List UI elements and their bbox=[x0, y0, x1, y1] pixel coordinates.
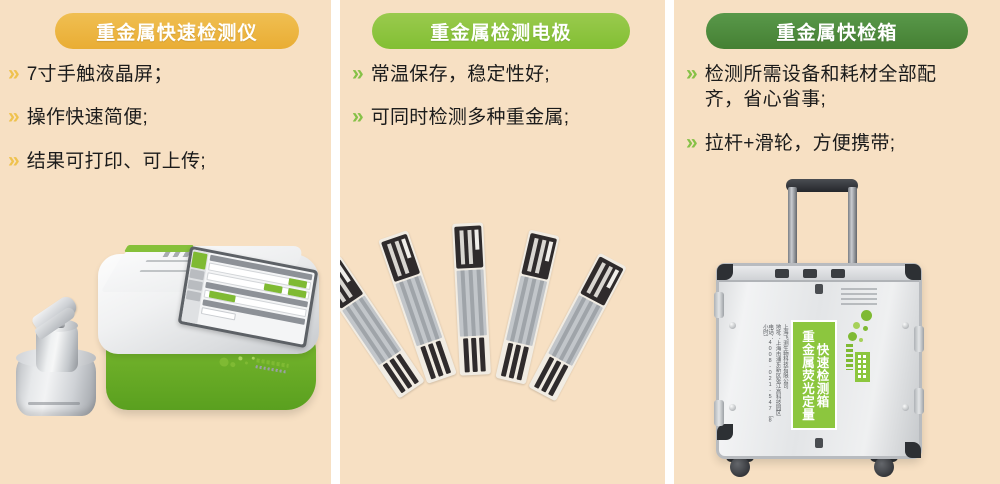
case-side-clip bbox=[914, 388, 924, 414]
silver-sampling-accessory bbox=[14, 288, 100, 416]
electrode-head bbox=[454, 225, 483, 268]
case-side-clip bbox=[714, 400, 724, 426]
logo-dot bbox=[861, 310, 872, 321]
electrode-contacts bbox=[417, 339, 454, 380]
chevron-double-right-icon: » bbox=[8, 62, 20, 86]
feature-list-electrode: » 常温保存，稳定性好; » 可同时检测多种重金属; bbox=[352, 62, 657, 149]
feature-text: 拉杆+滑轮，方便携带; bbox=[705, 131, 896, 156]
company-name: 上海飞测生物科技有限公司 bbox=[782, 324, 787, 389]
panel-divider bbox=[331, 0, 340, 484]
electrode-traces bbox=[457, 269, 487, 336]
handle-anchor bbox=[831, 269, 845, 278]
handle-rod-left bbox=[788, 187, 797, 269]
electrode-contacts bbox=[460, 337, 489, 372]
case-rivet bbox=[729, 322, 736, 329]
chevron-double-right-icon: » bbox=[352, 62, 364, 86]
case-rivet bbox=[902, 404, 909, 411]
logo-dot bbox=[238, 356, 243, 361]
handle-anchor bbox=[775, 269, 789, 278]
wheel-tyre bbox=[730, 457, 750, 477]
electrode-contacts bbox=[498, 342, 532, 381]
logo-wordmark bbox=[846, 344, 853, 370]
chevron-double-right-icon: » bbox=[686, 131, 698, 155]
panel-title-analyzer: 重金属快速检测仪 bbox=[55, 13, 299, 49]
feature-text: 检测所需设备和耗材全部配齐，省心省事; bbox=[705, 62, 957, 113]
feature-text: 操作快速简便; bbox=[27, 105, 148, 130]
handle-anchor bbox=[803, 269, 817, 278]
case-lock-top[interactable] bbox=[815, 284, 823, 294]
electrode-traces bbox=[395, 275, 442, 346]
chevron-double-right-icon: » bbox=[352, 105, 364, 129]
panel-title-case: 重金属快检箱 bbox=[706, 13, 968, 49]
product-feature-board: 重金属快速检测仪 » 7寸手触液晶屏； » 操作快速简便; » 结果可打印、可上… bbox=[0, 0, 1000, 484]
sidebar-active-item[interactable] bbox=[191, 251, 208, 269]
company-address: 地址：上海市浦东新区张江高科技园区 bbox=[774, 324, 779, 416]
case-company-text: 上海飞测生物科技有限公司 地址：上海市浦东新区张江高科技园区 电话：4008-0… bbox=[771, 324, 787, 428]
analyzer-body bbox=[98, 246, 323, 421]
logo-dot bbox=[245, 361, 248, 364]
logo-dot bbox=[853, 322, 860, 329]
list-item: » 常温保存，稳定性好; bbox=[352, 62, 657, 87]
feature-text: 结果可打印、可上传; bbox=[27, 149, 206, 174]
list-item: » 检测所需设备和耗材全部配齐，省心省事; bbox=[686, 62, 992, 113]
logo-dot bbox=[230, 362, 236, 368]
corner-protector bbox=[717, 264, 733, 280]
list-item: » 结果可打印、可上传; bbox=[8, 149, 323, 174]
corner-protector bbox=[717, 424, 733, 440]
electrode-head bbox=[381, 234, 420, 283]
case-rivet bbox=[729, 404, 736, 411]
case-green-label: 重金属荧光定量 快速检测箱 bbox=[791, 320, 837, 430]
case-brand-logo bbox=[843, 308, 877, 386]
logo-dot bbox=[848, 332, 857, 341]
feature-list-case: » 检测所需设备和耗材全部配齐，省心省事; » 拉杆+滑轮，方便携带; bbox=[686, 62, 992, 174]
electrode-traces bbox=[342, 295, 401, 365]
case-side-clip bbox=[914, 326, 924, 352]
panel-title-electrode: 重金属检测电极 bbox=[372, 13, 630, 49]
product-image-analyzer bbox=[0, 246, 331, 484]
label-line-2: 快速检测箱 bbox=[815, 343, 828, 408]
chevron-double-right-icon: » bbox=[8, 105, 20, 129]
panel-heavy-metal-detection-electrode: 重金属检测电极 » 常温保存，稳定性好; » 可同时检测多种重金属; bbox=[340, 0, 665, 484]
list-item: » 可同时检测多种重金属; bbox=[352, 105, 657, 130]
wheel-tyre bbox=[874, 457, 894, 477]
corner-protector bbox=[905, 264, 921, 280]
feature-text: 可同时检测多种重金属; bbox=[371, 105, 570, 130]
product-image-trolley-case: 上海飞测生物科技有限公司 地址：上海市浦东新区张江高科技园区 电话：4008-0… bbox=[674, 175, 1000, 484]
electrode-traces bbox=[548, 295, 603, 366]
case-side-clip bbox=[714, 292, 724, 318]
electrode-strip bbox=[452, 222, 491, 375]
chevron-double-right-icon: » bbox=[686, 62, 698, 86]
case-body: 上海飞测生物科技有限公司 地址：上海市浦东新区张江高科技园区 电话：4008-0… bbox=[716, 263, 922, 459]
product-image-electrodes bbox=[340, 215, 665, 484]
label-line-1: 重金属荧光定量 bbox=[801, 330, 814, 421]
case-fine-print bbox=[841, 288, 877, 306]
list-item: » 操作快速简便; bbox=[8, 105, 323, 130]
analyzer-green-accent bbox=[124, 245, 194, 252]
electrode-traces bbox=[506, 276, 547, 346]
feature-list-analyzer: » 7寸手触液晶屏； » 操作快速简便; » 结果可打印、可上传; bbox=[8, 62, 323, 192]
logo-dot bbox=[859, 338, 863, 342]
case-rivet bbox=[902, 322, 909, 329]
company-phone: 电话：4008-021-547（8小时） bbox=[761, 324, 772, 428]
logo-badge bbox=[855, 352, 870, 382]
screen-action-button[interactable] bbox=[264, 283, 283, 293]
logo-dot bbox=[863, 326, 868, 331]
accessory-base-groove bbox=[28, 402, 80, 405]
feature-text: 7寸手触液晶屏； bbox=[27, 62, 173, 87]
list-item: » 7寸手触液晶屏； bbox=[8, 62, 323, 87]
handle-rod-right bbox=[848, 187, 857, 269]
screen-action-button[interactable] bbox=[288, 278, 307, 288]
screen-action-button[interactable] bbox=[288, 288, 307, 298]
chevron-double-right-icon: » bbox=[8, 149, 20, 173]
corner-protector bbox=[905, 442, 921, 458]
panel-heavy-metal-rapid-analyzer: 重金属快速检测仪 » 7寸手触液晶屏； » 操作快速简便; » 结果可打印、可上… bbox=[0, 0, 331, 484]
case-lock-bottom[interactable] bbox=[815, 438, 823, 448]
case-lid bbox=[719, 266, 919, 282]
sidebar-item[interactable] bbox=[188, 280, 203, 291]
sidebar-item[interactable] bbox=[186, 290, 201, 301]
logo-dot bbox=[252, 356, 255, 359]
sidebar-item[interactable] bbox=[189, 269, 204, 280]
electrode-head bbox=[521, 233, 557, 280]
list-item: » 拉杆+滑轮，方便携带; bbox=[686, 131, 992, 156]
panel-divider bbox=[665, 0, 674, 484]
feature-text: 常温保存，稳定性好; bbox=[371, 62, 550, 87]
panel-heavy-metal-rapid-test-case: 重金属快检箱 » 检测所需设备和耗材全部配齐，省心省事; » 拉杆+滑轮，方便携… bbox=[674, 0, 1000, 484]
logo-dot bbox=[219, 357, 229, 367]
